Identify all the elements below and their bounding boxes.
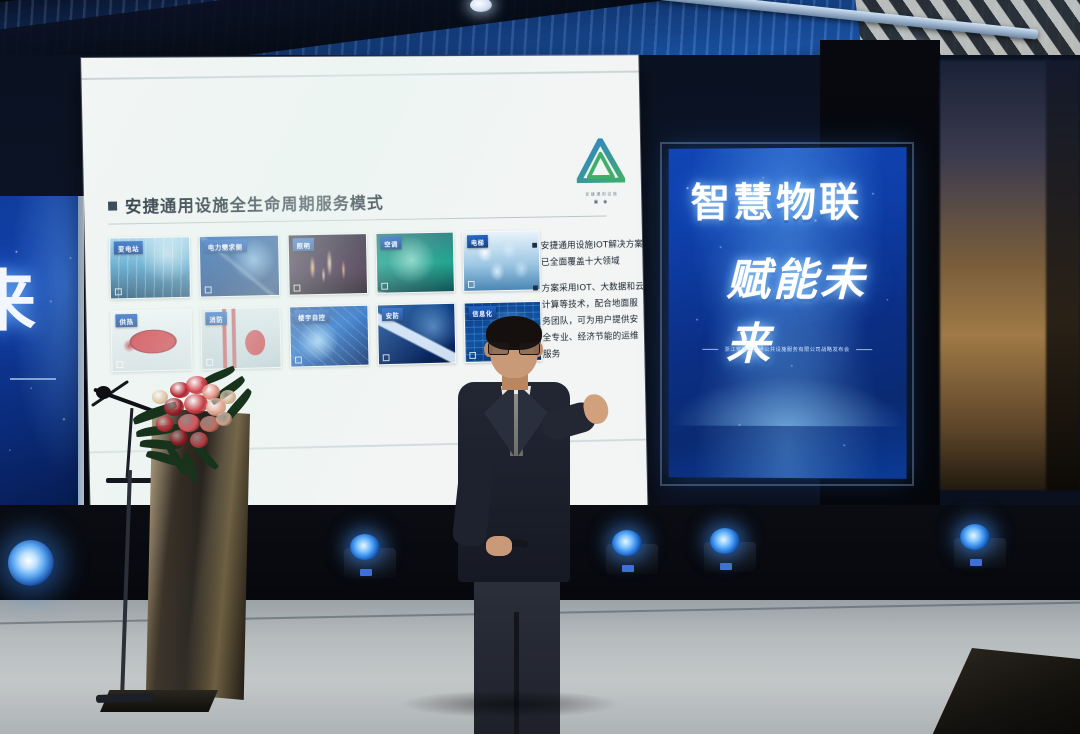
light-lens-icon xyxy=(960,524,990,550)
stage-light-fixture xyxy=(952,520,1010,568)
slide-thumbnail: 供热 xyxy=(110,309,192,373)
thumbnail-corner-mark xyxy=(383,354,390,361)
flower-bloom xyxy=(164,398,184,416)
presenter-floor-shadow xyxy=(400,690,620,718)
thumbnail-corner-mark xyxy=(115,288,122,295)
logo-caption: 安 捷 通 用 设 施 xyxy=(574,191,628,198)
flower-bloom xyxy=(220,390,236,404)
light-badge xyxy=(622,565,634,572)
slide-heading-text: 安捷通用设施全生命周期服务模式 xyxy=(125,190,384,218)
stage-light-beam-icon xyxy=(8,540,54,586)
flower-arrangement xyxy=(130,368,260,478)
led-sparkle-texture xyxy=(0,196,82,506)
glasses-bridge xyxy=(509,347,519,349)
glasses-lens xyxy=(519,342,540,355)
light-badge xyxy=(360,569,372,576)
light-badge xyxy=(720,563,732,570)
slide-logo: 安 捷 通 用 设 施 ▣ ◉ xyxy=(573,138,628,208)
thumbnail-corner-mark xyxy=(116,361,123,368)
thumbnail-corner-mark xyxy=(295,356,302,363)
presenter-left-hand xyxy=(486,536,512,556)
wall-wood-edge xyxy=(1046,60,1080,490)
light-lens-icon xyxy=(612,530,642,556)
thumbnail-label: 楼宇自控 xyxy=(294,310,329,324)
left-led-wall: 来 xyxy=(0,196,82,506)
thumbnail-label: 安防 xyxy=(382,308,404,321)
thumbnail-label: 供热 xyxy=(115,314,137,327)
banner-subtitle-text: 浙江安捷江红通公共设施服务有限公司战略发布会 xyxy=(725,346,850,353)
right-led-screen: 智慧物联 赋能未来 浙江安捷江红通公共设施服务有限公司战略发布会 xyxy=(669,147,907,479)
banner-subtitle: 浙江安捷江红通公共设施服务有限公司战略发布会 xyxy=(669,346,907,353)
thumbnail-label: 照明 xyxy=(293,238,315,251)
slide-heading-divider xyxy=(108,216,606,225)
slide-thumbnail: 照明 xyxy=(288,233,368,296)
glasses-lens xyxy=(488,342,509,355)
slide-thumbnail: 电梯 xyxy=(462,230,540,292)
bullet-item: 安捷通用设施IOT解决方案已全面覆盖十大领域 xyxy=(532,236,644,271)
flower-bloom xyxy=(216,412,232,426)
light-lens-icon xyxy=(710,528,740,554)
thumbnail-corner-mark xyxy=(206,359,213,366)
light-lens-icon xyxy=(350,534,380,560)
flower-bloom xyxy=(184,394,208,414)
thumbnail-label: 空调 xyxy=(380,236,402,249)
slide-heading: 安捷通用设施全生命周期服务模式 xyxy=(108,190,384,218)
left-led-rule xyxy=(10,378,56,380)
slide-thumbnail: 电力需求侧 xyxy=(199,235,280,298)
bullet-square-icon xyxy=(532,243,537,248)
slide-thumbnail: 楼宇自控 xyxy=(289,305,369,368)
thumbnail-corner-mark xyxy=(468,281,475,288)
stage-light-fixture xyxy=(342,530,400,578)
stage-light-fixture xyxy=(702,524,760,572)
thumbnail-label: 信息化 xyxy=(468,306,496,319)
heading-bullet-icon xyxy=(108,201,117,210)
flower-bloom xyxy=(190,432,208,448)
flower-bloom xyxy=(152,390,168,404)
triangle-logo-icon xyxy=(576,138,625,183)
slide-thumbnail: 空调 xyxy=(375,232,454,294)
screen-crease xyxy=(82,71,639,80)
thumbnail-label: 电梯 xyxy=(467,235,488,248)
thumbnail-label: 变电站 xyxy=(114,241,143,254)
thumbnail-corner-mark xyxy=(381,283,388,290)
thumbnail-label: 消防 xyxy=(205,312,227,325)
glasses-icon xyxy=(488,342,540,355)
bullet-text: 安捷通用设施IOT解决方案已全面覆盖十大领域 xyxy=(541,236,645,271)
logo-sub-icons: ▣ ◉ xyxy=(574,199,628,206)
thumbnail-corner-mark xyxy=(205,286,212,293)
flower-bloom xyxy=(170,430,188,446)
bullet-square-icon xyxy=(533,285,538,290)
presenter xyxy=(438,320,598,734)
subtitle-dash-right xyxy=(856,349,872,350)
banner-headline-line1: 智慧物联 xyxy=(690,170,862,229)
flower-bloom xyxy=(156,416,174,432)
slide-thumbnail: 消防 xyxy=(200,307,281,370)
thumbnail-label: 电力需求侧 xyxy=(204,239,247,253)
slide-thumbnail: 变电站 xyxy=(109,236,191,299)
left-led-text: 来 xyxy=(0,248,38,344)
conference-stage-scene: 来 安 捷 通 用 设 施 ▣ ◉ 安捷通用设施全生命周期服务模式 xyxy=(0,0,1080,734)
stage-light-fixture xyxy=(604,526,662,574)
wall-wood-panel xyxy=(940,60,1050,490)
microphone-icon xyxy=(96,386,111,399)
light-badge xyxy=(970,559,982,566)
thumbnail-corner-mark xyxy=(294,285,301,292)
subtitle-dash-left xyxy=(703,349,719,350)
left-led-edge xyxy=(78,196,84,506)
